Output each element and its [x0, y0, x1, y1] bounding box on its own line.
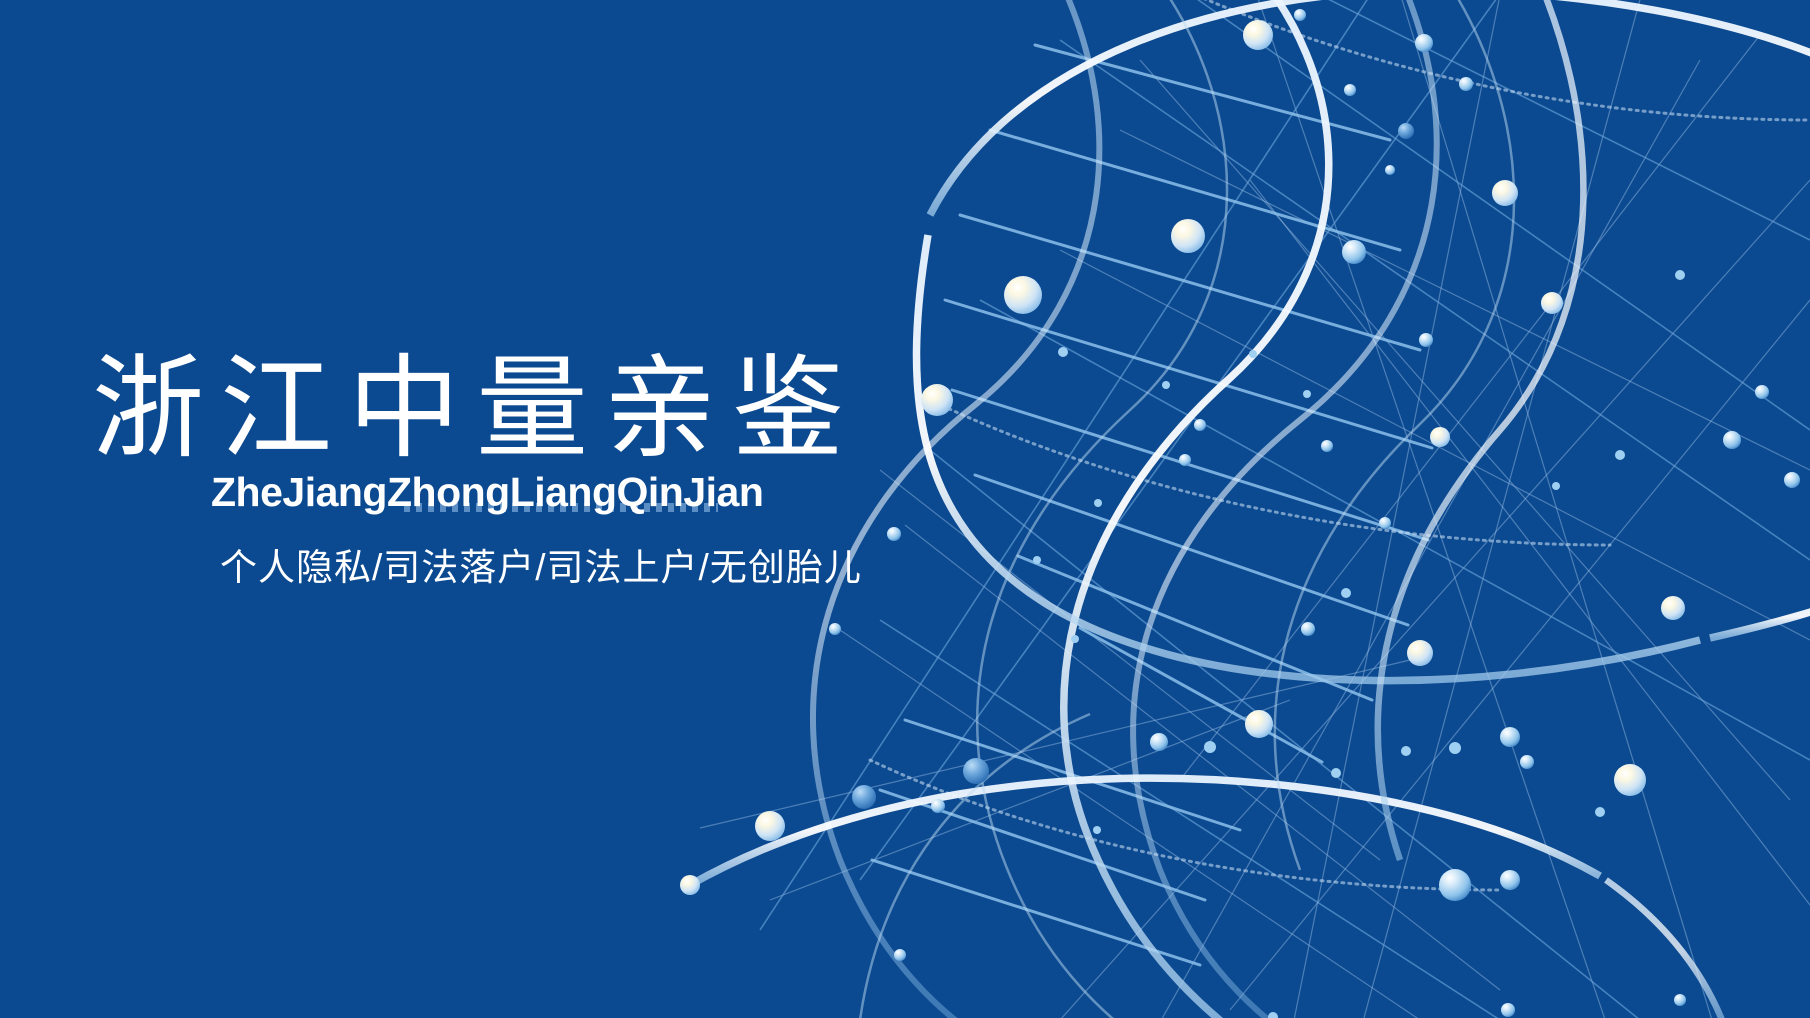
slide-canvas: 浙江中量亲鉴 ZheJiangZhongLiangQinJian 个人隐私/司法… — [0, 0, 1810, 1018]
page-title: 浙江中量亲鉴 — [92, 354, 860, 466]
services-tagline: 个人隐私/司法落户/司法上户/无创胎儿 — [220, 549, 862, 586]
hero-text-block: 浙江中量亲鉴 ZheJiangZhongLiangQinJian 个人隐私/司法… — [0, 0, 960, 1018]
pinyin-subtitle: ZheJiangZhongLiangQinJian — [211, 472, 763, 513]
